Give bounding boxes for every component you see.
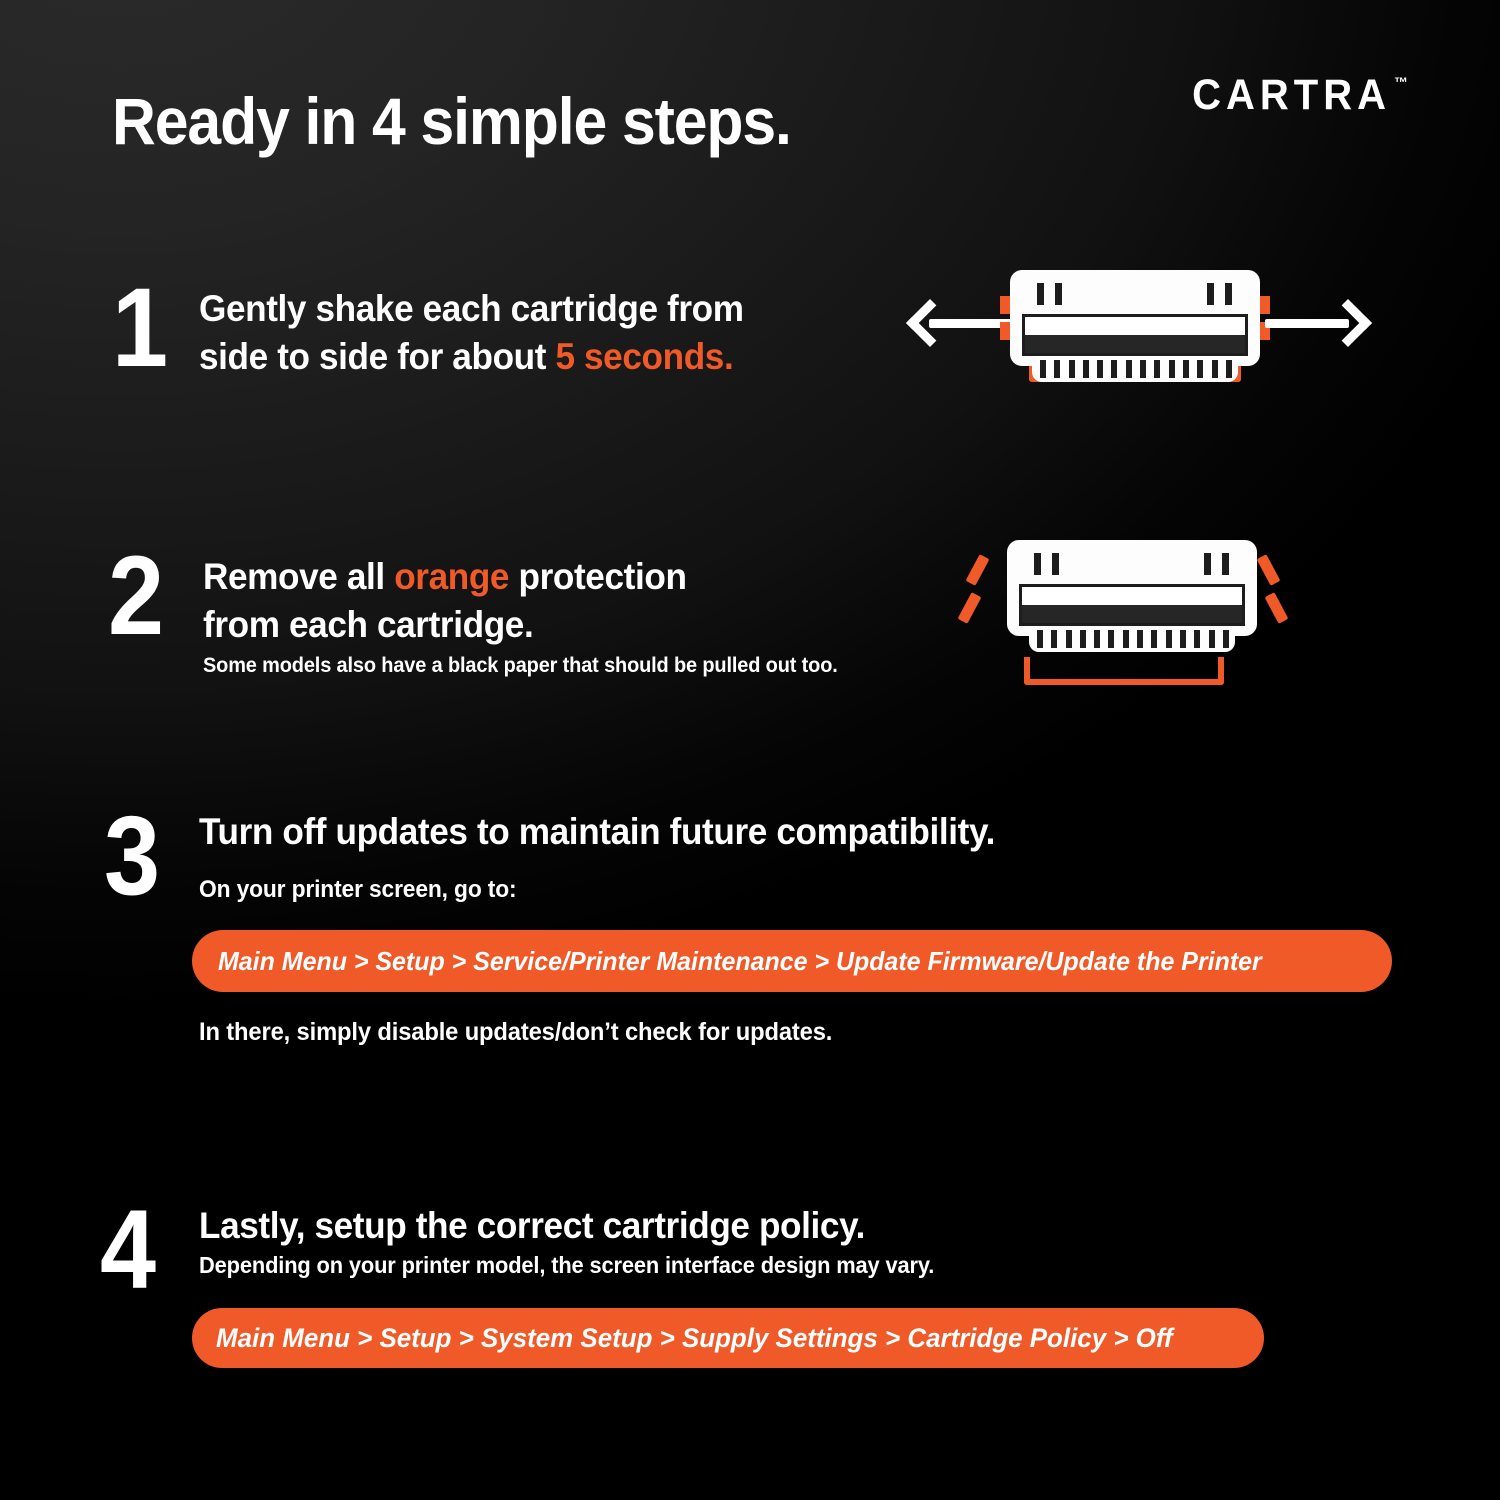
brand-logo-wordmark: CARTRA (1192, 72, 1391, 120)
step-2-subtext: Some models also have a black paper that… (203, 654, 838, 678)
cartridge-tab-4 (1222, 553, 1229, 575)
step-2-headline-line2: from each cartridge. (203, 601, 533, 649)
cartridge-pin (1151, 630, 1157, 648)
cartridge-pin (1111, 360, 1117, 378)
step-3-headline: Turn off updates to maintain future comp… (199, 808, 995, 856)
cartridge-pin (1108, 630, 1114, 648)
cartridge-pin (1066, 630, 1072, 648)
cartridge-graphic (1007, 540, 1257, 660)
cartridge-pin (1051, 630, 1057, 648)
cartridge-pin (1209, 630, 1215, 648)
cartridge-graphic (1010, 270, 1260, 390)
step-1-headline-line2: side to side for about 5 seconds. (199, 333, 733, 381)
cartridge-pin (1180, 630, 1186, 648)
cartridge-pin (1126, 360, 1132, 378)
cartridge-label-window (1022, 314, 1248, 356)
cartridge-pin (1094, 630, 1100, 648)
cartridge-label-window (1019, 584, 1245, 626)
page-title: Ready in 4 simple steps. (112, 88, 791, 154)
step-3-subtext: On your printer screen, go to: (199, 876, 517, 904)
step-3-footnote: In there, simply disable updates/don’t c… (199, 1018, 832, 1047)
step-1-number: 1 (112, 272, 168, 384)
arrow-right-icon (1260, 293, 1365, 355)
cartridge-tab-4 (1225, 283, 1232, 305)
cartridge-pin (1154, 360, 1160, 378)
instruction-poster: Ready in 4 simple steps. CARTRA ™ 1 Gent… (0, 0, 1500, 1500)
step-2-number: 2 (108, 540, 164, 652)
step-2-headline-pre: Remove all (203, 556, 394, 597)
step-1-headline-line2-text: side to side for about (199, 336, 555, 377)
cartridge-pin (1169, 360, 1175, 378)
step-4-headline: Lastly, setup the correct cartridge poli… (199, 1202, 865, 1250)
cartridge-pin (1097, 360, 1103, 378)
cartridge-pin (1197, 360, 1203, 378)
cartridge-pins (1037, 630, 1229, 648)
cartridge-tab-1 (1034, 553, 1041, 575)
cartridge-pins (1040, 360, 1232, 378)
step-2-illustration (962, 535, 1282, 690)
cartridge-pin (1194, 630, 1200, 648)
step-3-menu-path-text: Main Menu > Setup > Service/Printer Main… (218, 946, 1262, 977)
cartridge-tab-3 (1207, 283, 1214, 305)
cartridge-pin (1054, 360, 1060, 378)
cartridge-tab-1 (1037, 283, 1044, 305)
step-1-headline-line1: Gently shake each cartridge from (199, 285, 744, 333)
cartridge-pin (1069, 360, 1075, 378)
cartridge-pin (1137, 630, 1143, 648)
step-3-number: 3 (104, 800, 160, 912)
step-4-menu-path-pill[interactable]: Main Menu > Setup > System Setup > Suppl… (192, 1308, 1264, 1368)
trademark-icon: ™ (1394, 74, 1408, 90)
step-4-number: 4 (100, 1194, 156, 1306)
orange-protection-dash-left-bottom (958, 592, 982, 624)
step-4-menu-path-text: Main Menu > Setup > System Setup > Suppl… (216, 1323, 1173, 1354)
cartridge-pin (1166, 630, 1172, 648)
arrow-right-shaft (1265, 319, 1349, 328)
step-3-menu-path-pill[interactable]: Main Menu > Setup > Service/Printer Main… (192, 930, 1392, 992)
cartridge-pin (1080, 630, 1086, 648)
cartridge-pin (1140, 360, 1146, 378)
cartridge-pin (1083, 360, 1089, 378)
cartridge-tab-2 (1052, 553, 1059, 575)
step-2-headline-line1: Remove all orange protection (203, 553, 687, 601)
cartridge-pin (1037, 630, 1043, 648)
cartridge-tab-3 (1204, 553, 1211, 575)
step-1-duration-accent: 5 seconds. (555, 336, 733, 377)
cartridge-pin (1226, 360, 1232, 378)
orange-protection-dash-right-bottom (1265, 592, 1289, 624)
orange-protection-dash-left-top (966, 554, 990, 586)
cartridge-pin (1040, 360, 1046, 378)
cartridge-pin (1123, 630, 1129, 648)
orange-bottom-protection-removed (1024, 657, 1224, 685)
cartridge-pin (1183, 360, 1189, 378)
step-2-headline-post: protection (509, 556, 686, 597)
brand-logo: CARTRA ™ (1192, 72, 1408, 117)
step-2-orange-accent: orange (394, 556, 509, 597)
step-4-subtext: Depending on your printer model, the scr… (199, 1252, 934, 1279)
cartridge-pin (1212, 360, 1218, 378)
cartridge-tab-2 (1055, 283, 1062, 305)
cartridge-pin (1223, 630, 1229, 648)
orange-protection-dash-right-top (1257, 554, 1281, 586)
step-1-illustration (905, 265, 1365, 395)
